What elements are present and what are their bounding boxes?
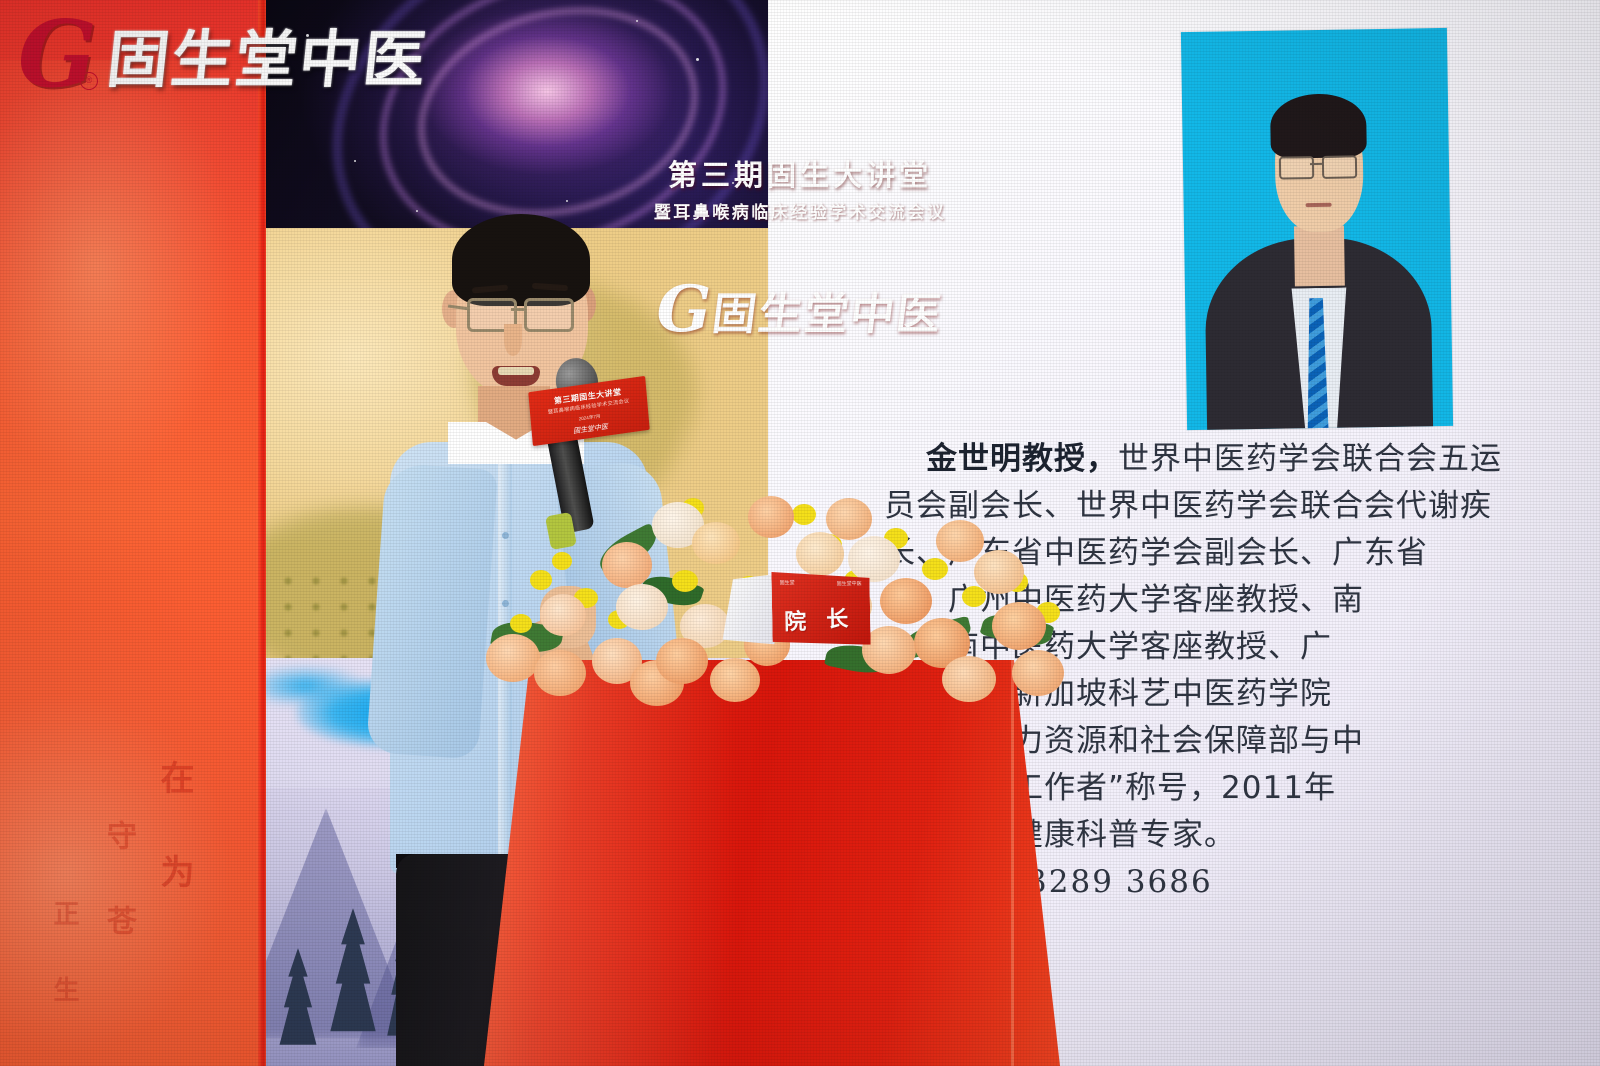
speaker-teeth — [498, 367, 534, 375]
brand-g-mark-icon: G ® — [18, 14, 104, 94]
cream-rose-flower — [616, 584, 668, 630]
conference-stage-photo: 在 为 守 苍 正 生 — [0, 0, 1600, 1066]
nameplate-char-2: 长 — [826, 601, 849, 633]
rose-flower — [936, 520, 984, 562]
nameplate-char-1: 院 — [784, 604, 807, 636]
portrait-hair — [1270, 93, 1367, 159]
nameplate-white-side — [721, 574, 774, 645]
bio-line-rest: 世界中医药学会联合会五运 — [1118, 441, 1502, 477]
rose-flower — [540, 594, 586, 636]
nameplate-brand-right: 固生堂中医 — [837, 580, 862, 587]
rose-flower — [692, 522, 740, 564]
speaker-name: 金世明教授， — [926, 441, 1118, 477]
podium-lectern — [484, 660, 1060, 1066]
podium-event-title: 第三期固生大讲堂 — [0, 152, 1600, 194]
star — [636, 20, 638, 22]
calligraphy-column-3: 正 生 — [46, 900, 83, 1012]
rose-flower — [942, 656, 996, 702]
rose-flower — [1012, 650, 1064, 696]
star — [696, 58, 699, 61]
rose-flower — [748, 496, 794, 538]
podium-edge — [1011, 660, 1014, 1066]
yellow-spray — [792, 504, 816, 525]
podium-event-subtitle: 暨耳鼻喉病临床经验学术交流会议 — [0, 198, 1600, 223]
rose-flower — [880, 578, 932, 624]
yellow-spray — [922, 558, 948, 580]
nameplate-red-side: 固生堂 固生堂中医 院 长 — [771, 569, 870, 647]
speaker-sleeve-left — [366, 462, 498, 759]
podium-brand-logo: G 固生堂中医 — [0, 278, 1600, 342]
speaker-portrait-photo — [1181, 28, 1453, 430]
rose-flower — [992, 602, 1046, 650]
yellow-spray — [672, 570, 698, 592]
yellow-spray — [510, 614, 532, 633]
rose-flower — [602, 542, 652, 588]
rose-flower — [534, 650, 586, 696]
registered-trademark-icon: ® — [80, 72, 98, 90]
desk-nameplate: 固生堂 固生堂中医 院 长 — [721, 569, 870, 646]
yellow-spray — [552, 552, 572, 570]
calligraphy-column-2: 守 苍 — [96, 820, 140, 945]
calligraphy-column-1: 在 为 — [150, 760, 199, 898]
podium-logo-g-mark: G — [657, 278, 712, 342]
nameplate-brand-left: 固生堂 — [780, 579, 795, 586]
rose-flower — [974, 550, 1024, 594]
rose-flower — [656, 638, 708, 684]
brand-name: 固生堂中医 — [103, 9, 432, 99]
rose-flower — [710, 658, 760, 702]
yellow-spray — [530, 570, 552, 590]
podium-logo-name: 固生堂中医 — [709, 278, 947, 342]
rose-flower — [486, 634, 540, 682]
rose-flower — [826, 498, 872, 540]
brand-logo: G ® 固生堂中医 — [18, 8, 488, 100]
